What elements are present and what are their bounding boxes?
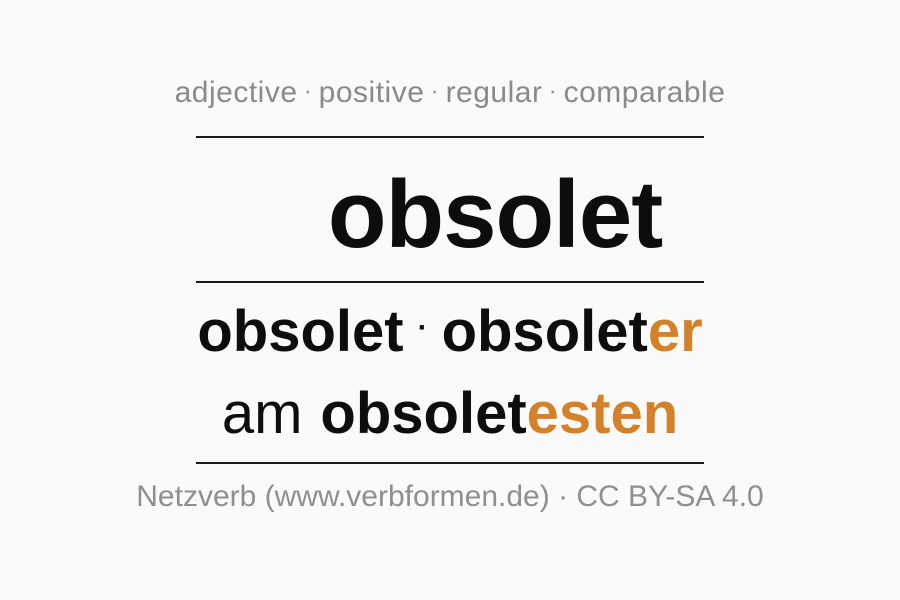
inflection-label: regular	[446, 76, 543, 109]
comparison-label: comparable	[564, 76, 726, 109]
forms-line-superlative: amobsoletesten	[0, 382, 900, 446]
comparison-forms: obsolet·obsoleter amobsoletesten	[0, 300, 900, 446]
grammar-separator-3: ·	[542, 75, 563, 105]
adjective-conjugation-card: adjective·positive·regular·comparable ob…	[0, 0, 900, 600]
divider-middle	[196, 281, 704, 283]
superlative-suffix: esten	[527, 381, 679, 446]
headword-text: obsolet	[328, 167, 662, 263]
divider-top	[196, 136, 704, 138]
superlative-prefix: am	[222, 381, 303, 446]
comparative-suffix: er	[648, 299, 703, 364]
grammar-info-line: adjective·positive·regular·comparable	[0, 76, 900, 110]
headword-row: obsolet	[0, 160, 900, 270]
german-flag-icon	[238, 184, 304, 250]
word-class-label: adjective	[175, 76, 298, 109]
grammar-separator-1: ·	[298, 75, 319, 105]
degree-label: positive	[319, 76, 425, 109]
grammar-separator-2: ·	[424, 75, 445, 105]
superlative-stem: obsolet	[320, 381, 526, 446]
forms-separator: ·	[404, 311, 442, 344]
comparative-stem: obsolet	[442, 299, 648, 364]
divider-bottom	[196, 462, 704, 464]
forms-line-positive-comparative: obsolet·obsoleter	[0, 300, 900, 374]
attribution-footer: Netzverb (www.verbformen.de) · CC BY-SA …	[0, 480, 900, 514]
positive-form: obsolet	[197, 299, 403, 364]
